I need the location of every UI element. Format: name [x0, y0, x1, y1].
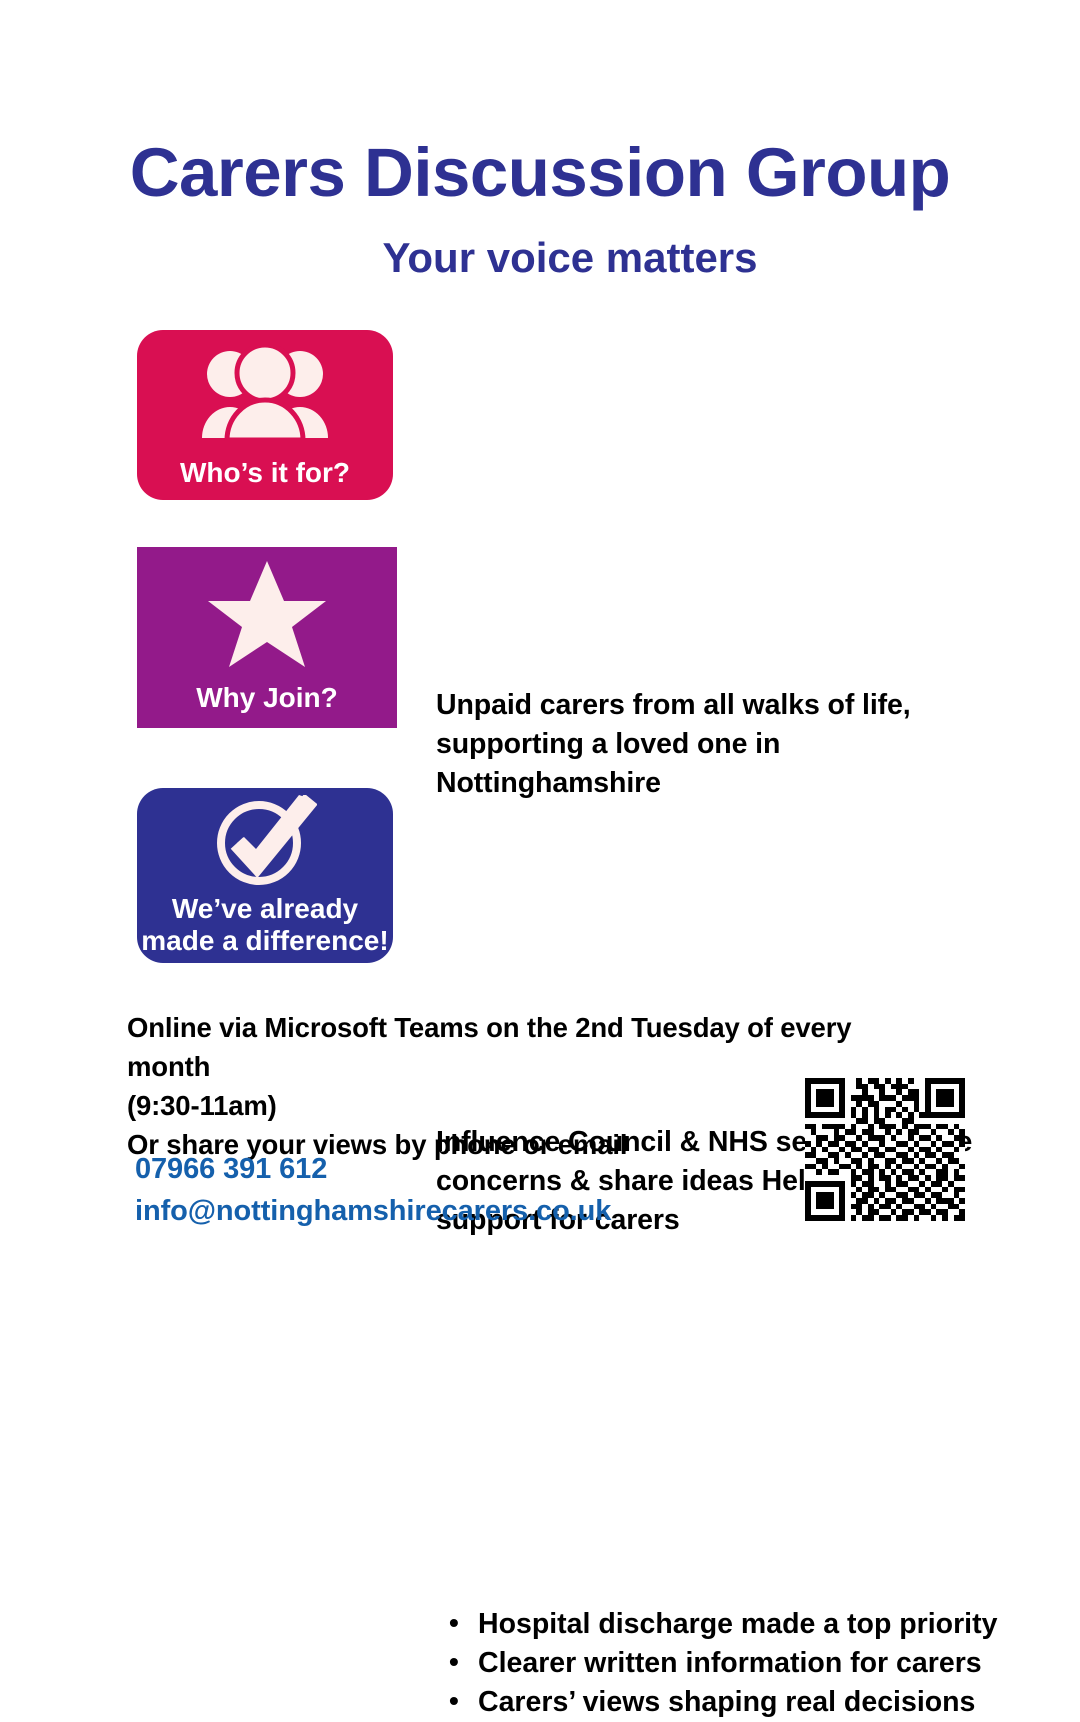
- poster-header: Carers Discussion Group Your voice matte…: [0, 138, 1080, 279]
- contact-email[interactable]: info@nottinghamshirecarers.co.uk: [135, 1190, 835, 1232]
- card-label-difference-line2: made a difference!: [141, 925, 388, 956]
- difference-bullet-list: Hospital discharge made a top priority C…: [449, 1605, 1009, 1722]
- list-item: Hospital discharge made a top priority: [449, 1605, 1009, 1644]
- meeting-details-line1: Online via Microsoft Teams on the 2nd Tu…: [127, 1008, 867, 1086]
- list-item: Clearer written information for carers: [449, 1644, 1009, 1683]
- check-circle-icon: [137, 788, 393, 893]
- poster-canvas: Carers Discussion Group Your voice matte…: [0, 0, 1080, 1350]
- card-made-a-difference: We’ve already made a difference!: [137, 788, 393, 963]
- who-its-for-text: Unpaid carers from all walks of life, su…: [436, 686, 966, 802]
- card-label-difference-line1: We’ve already: [172, 893, 358, 924]
- card-label-difference: We’ve already made a difference!: [141, 893, 388, 956]
- card-label-why: Why Join?: [196, 682, 338, 713]
- card-label-who: Who’s it for?: [180, 457, 350, 488]
- page-title: Carers Discussion Group: [0, 138, 1080, 207]
- list-item: Carers’ views shaping real decisions: [449, 1683, 1009, 1722]
- people-group-icon: [137, 330, 393, 457]
- card-who-its-for: Who’s it for?: [137, 330, 393, 500]
- meeting-details: Online via Microsoft Teams on the 2nd Tu…: [127, 1008, 867, 1164]
- qr-code[interactable]: [805, 1078, 965, 1238]
- star-icon: [137, 547, 397, 682]
- contact-phone[interactable]: 07966 391 612: [135, 1148, 835, 1190]
- contact-details: 07966 391 612 info@nottinghamshirecarers…: [135, 1148, 835, 1232]
- card-why-join: Why Join?: [137, 547, 397, 728]
- meeting-details-line2: (9:30-11am): [127, 1086, 867, 1125]
- page-subtitle: Your voice matters: [0, 207, 1080, 279]
